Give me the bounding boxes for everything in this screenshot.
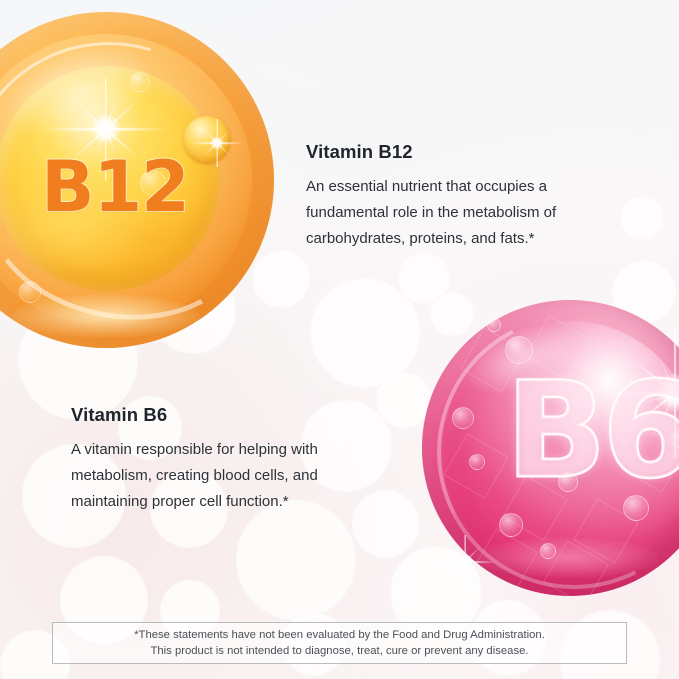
- vitamin-b12-description: An essential nutrient that occupies a fu…: [306, 174, 606, 252]
- vitamin-b6-sphere: B6: [422, 300, 679, 596]
- disclaimer-line-1: *These statements have not been evaluate…: [134, 627, 545, 643]
- vitamin-b6-description: A vitamin responsible for helping with m…: [71, 437, 371, 515]
- disclaimer-line-2: This product is not intended to diagnose…: [150, 643, 528, 659]
- b6-bottom-gloss: [475, 537, 659, 578]
- b6-sphere-label: B6: [422, 365, 679, 497]
- infographic-canvas: B12: [0, 0, 679, 679]
- vitamin-b12-sphere: B12: [0, 12, 274, 348]
- vitamin-b12-title: Vitamin B12: [306, 141, 606, 163]
- vitamin-b6-title: Vitamin B6: [71, 404, 371, 426]
- b12-sphere-label: B12: [0, 146, 274, 228]
- fda-disclaimer-box: *These statements have not been evaluate…: [52, 622, 627, 664]
- vitamin-b12-info-block: Vitamin B12 An essential nutrient that o…: [306, 141, 606, 252]
- vitamin-b6-info-block: Vitamin B6 A vitamin responsible for hel…: [71, 404, 371, 515]
- b12-bottom-gloss: [12, 294, 200, 338]
